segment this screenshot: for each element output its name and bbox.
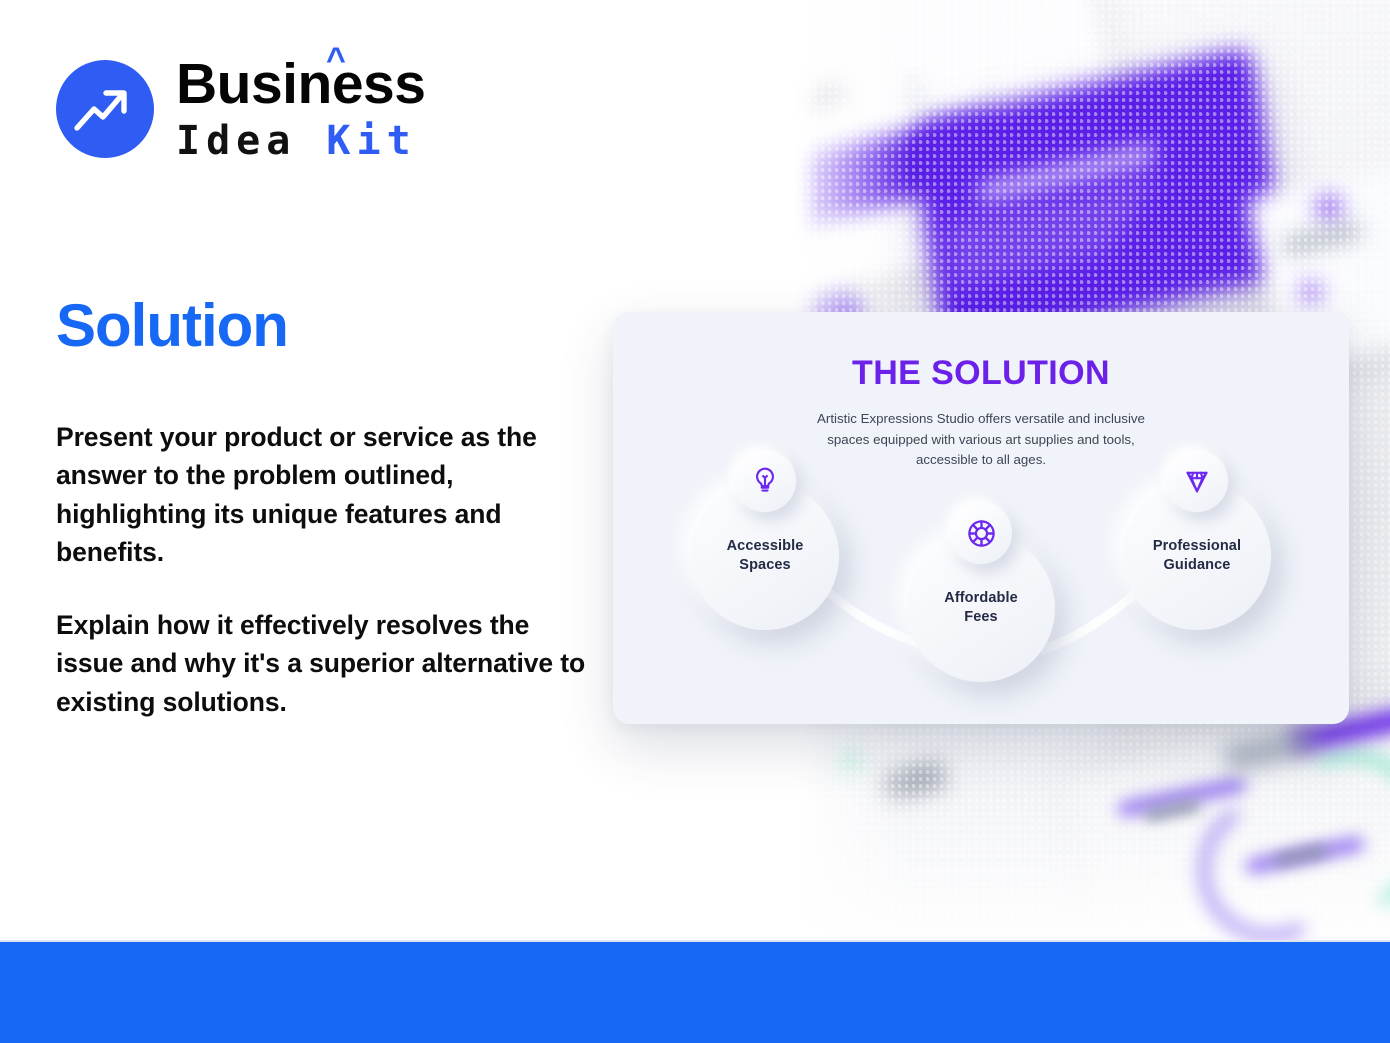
solution-node-cluster: Accessible Spaces Affordable xyxy=(613,464,1349,724)
solution-card: THE SOLUTION Artistic Expressions Studio… xyxy=(613,312,1349,724)
node-label: Accessible Spaces xyxy=(727,537,804,574)
node-label-line-1: Professional xyxy=(1153,538,1241,554)
solution-node-affordable-fees[interactable]: Affordable Fees xyxy=(907,534,1055,682)
node-label-line-1: Accessible xyxy=(727,538,804,554)
solution-node-accessible-spaces[interactable]: Accessible Spaces xyxy=(691,482,839,630)
card-subtitle: Artistic Expressions Studio offers versa… xyxy=(805,409,1157,471)
body-copy: Present your product or service as the a… xyxy=(56,418,586,721)
node-label-line-1: Affordable xyxy=(944,590,1018,606)
node-label-line-2: Guidance xyxy=(1164,557,1231,573)
trending-up-arrow-icon xyxy=(56,60,154,158)
brand-name-bottom: Idea Kit xyxy=(176,121,425,161)
body-paragraph-1: Present your product or service as the a… xyxy=(56,418,586,572)
page-title: Solution xyxy=(56,296,288,356)
diamond-icon xyxy=(1166,450,1228,512)
node-label-line-2: Fees xyxy=(964,609,997,625)
brand-name-top-text: Business xyxy=(176,52,425,116)
node-label-line-2: Spaces xyxy=(739,557,790,573)
brand-name-idea: Idea xyxy=(176,118,296,164)
solution-node-professional-guidance[interactable]: Professional Guidance xyxy=(1123,482,1271,630)
node-label: Professional Guidance xyxy=(1153,537,1241,574)
brand-circumflex-accent: ^ xyxy=(326,43,345,77)
lifebuoy-icon xyxy=(950,502,1012,564)
brand-logo[interactable]: Business ^ Idea Kit xyxy=(56,56,425,161)
footer-bar xyxy=(0,942,1390,1043)
node-label: Affordable Fees xyxy=(944,589,1018,626)
lightbulb-icon xyxy=(734,450,796,512)
brand-name-kit: Kit xyxy=(326,118,416,164)
body-paragraph-2: Explain how it effectively resolves the … xyxy=(56,606,586,721)
brand-name-top: Business ^ xyxy=(176,56,425,113)
brand-wordmark: Business ^ Idea Kit xyxy=(176,56,425,161)
slide-canvas: Business ^ Idea Kit Solution Present you… xyxy=(0,0,1390,1043)
card-title: THE SOLUTION xyxy=(613,354,1349,393)
